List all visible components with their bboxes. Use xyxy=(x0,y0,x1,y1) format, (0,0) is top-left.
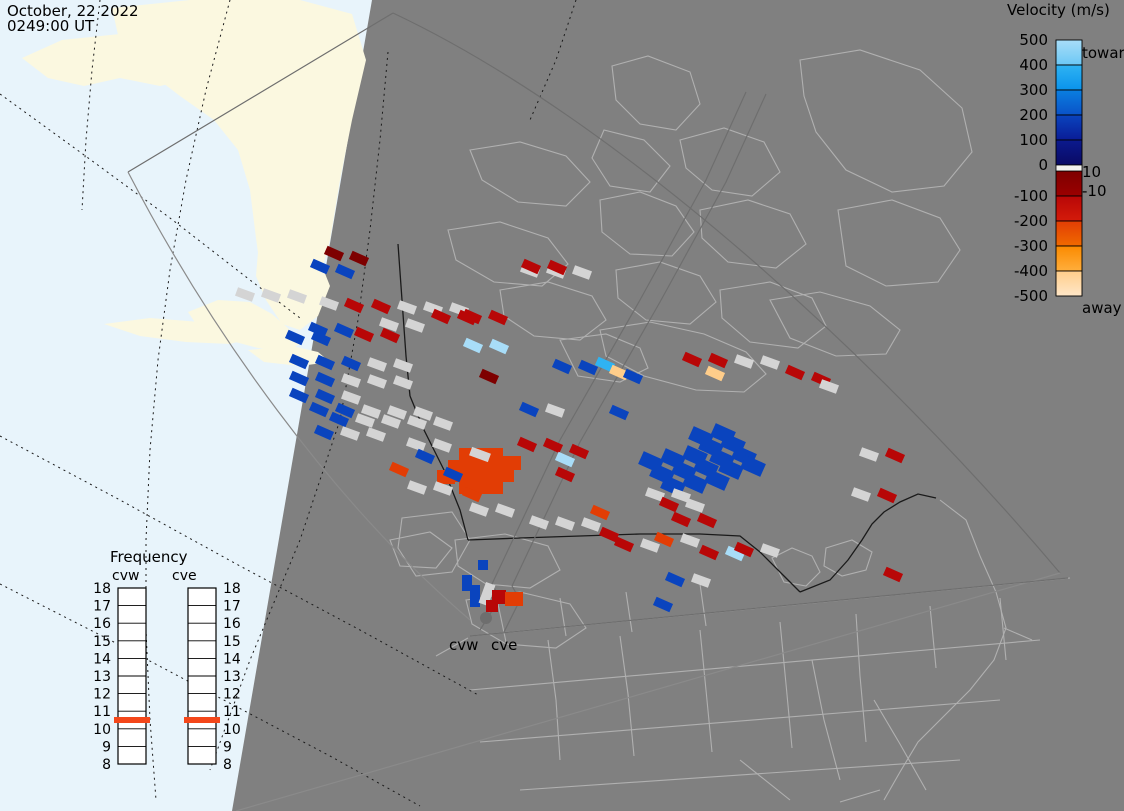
frequency-tick-label: 13 xyxy=(223,669,241,685)
frequency-tick-label: 12 xyxy=(223,687,241,703)
frequency-col-label-cvw: cvw xyxy=(112,568,139,584)
frequency-marker xyxy=(184,717,220,723)
site-label-cve: cve xyxy=(491,636,517,654)
colorbar-zero-upper-label: 10 xyxy=(1082,163,1101,181)
colorbar-tick-label: 300 xyxy=(1019,81,1048,99)
colorbar-tick-label: 200 xyxy=(1019,106,1048,124)
colorbar-tick-label: 0 xyxy=(1038,156,1048,174)
colorbar-tick-label: 500 xyxy=(1019,31,1048,49)
frequency-tick-label: 10 xyxy=(93,722,111,738)
frequency-tick-label: 14 xyxy=(223,651,241,667)
frequency-tick-label: 16 xyxy=(93,616,111,632)
frequency-tick-label: 18 xyxy=(223,581,241,597)
scatter-cell xyxy=(481,472,503,494)
colorbar-tick-label: -400 xyxy=(1014,262,1048,280)
colorbar-band xyxy=(1056,246,1082,271)
frequency-tick-label: 15 xyxy=(223,634,241,650)
frequency-tick-label: 11 xyxy=(93,704,111,720)
frequency-tick-label: 16 xyxy=(223,616,241,632)
colorbar-toward-label: toward xyxy=(1082,44,1124,62)
frequency-tick-label: 8 xyxy=(102,757,111,773)
colorbar-tick-label: -100 xyxy=(1014,187,1048,205)
colorbar-tick-label: -200 xyxy=(1014,212,1048,230)
colorbar-band xyxy=(1056,271,1082,296)
frequency-tick-label: 12 xyxy=(93,687,111,703)
colorbar-zero-lower-label: -10 xyxy=(1082,182,1107,200)
frequency-tick-label: 9 xyxy=(223,739,232,755)
radar-velocity-map: cvw cve October, 22 2022 0249:00 UT Velo… xyxy=(0,0,1124,811)
colorbar-band xyxy=(1056,221,1082,246)
colorbar-tick-label: 400 xyxy=(1019,56,1048,74)
colorbar-tick-label: -300 xyxy=(1014,237,1048,255)
frequency-tick-label: 17 xyxy=(93,599,111,615)
colorbar-tick-label: 100 xyxy=(1019,131,1048,149)
colorbar-bands xyxy=(1056,40,1082,296)
frequency-tick-label: 15 xyxy=(93,634,111,650)
colorbar-band xyxy=(1056,65,1082,90)
colorbar-band xyxy=(1056,196,1082,221)
scatter-cell xyxy=(505,592,523,606)
radar-site-marker xyxy=(480,612,492,624)
scatter-cell xyxy=(503,456,521,470)
colorbar-band xyxy=(1056,171,1082,196)
frequency-tick-label: 17 xyxy=(223,599,241,615)
colorbar-band xyxy=(1056,140,1082,165)
scatter-cell xyxy=(478,560,488,570)
frequency-tick-label: 13 xyxy=(93,669,111,685)
frequency-tick-label: 10 xyxy=(223,722,241,738)
colorbar-band xyxy=(1056,115,1082,140)
scatter-cell xyxy=(486,600,498,612)
colorbar-band xyxy=(1056,90,1082,115)
colorbar-away-label: away xyxy=(1082,299,1122,317)
site-label-cvw: cvw xyxy=(449,636,478,654)
colorbar-tick-label: -500 xyxy=(1014,287,1048,305)
frequency-tick-label: 8 xyxy=(223,757,232,773)
frequency-tick-label: 11 xyxy=(223,704,241,720)
map-canvas: cvw cve October, 22 2022 0249:00 UT Velo… xyxy=(0,0,1124,811)
scatter-cell xyxy=(462,575,472,591)
colorbar-heading: Velocity (m/s) xyxy=(1007,1,1110,19)
title-time: 0249:00 UT xyxy=(7,17,95,35)
frequency-marker xyxy=(114,717,150,723)
frequency-tick-label: 9 xyxy=(102,739,111,755)
colorbar-zero-band xyxy=(1056,165,1082,171)
frequency-tick-label: 14 xyxy=(93,651,111,667)
frequency-col-label-cve: cve xyxy=(172,568,197,584)
frequency-heading: Frequency xyxy=(110,548,188,566)
colorbar-band xyxy=(1056,40,1082,65)
frequency-tick-label: 18 xyxy=(93,581,111,597)
